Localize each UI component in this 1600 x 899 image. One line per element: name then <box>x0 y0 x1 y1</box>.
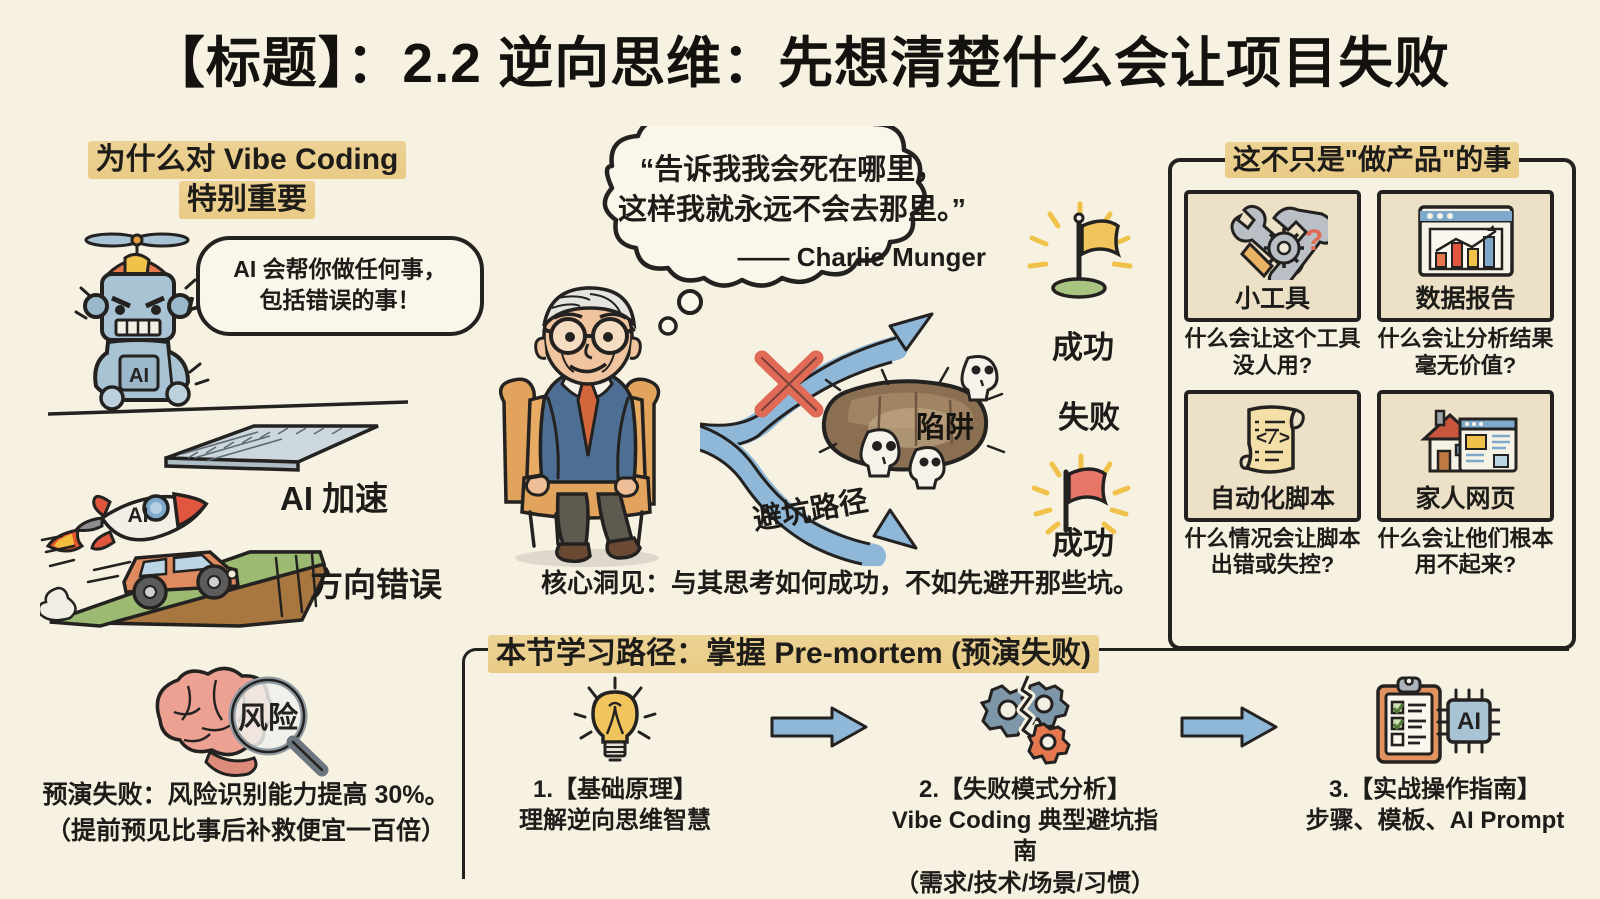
label-ai-speed: AI 加速 <box>280 472 388 520</box>
learning-step[interactable]: 1.【基础原理】 理解逆向思维智慧 <box>470 672 760 836</box>
page-title: 【标题】：2.2 逆向思维：先想清楚什么会让项目失败 <box>0 18 1600 98</box>
learning-path-steps: 1.【基础原理】 理解逆向思维智慧 <box>470 672 1580 882</box>
tools-gear-question-icon: ? <box>1218 194 1328 287</box>
step-line1: 3.【实战操作指南】 <box>1306 774 1565 805</box>
step-text: 1.【基础原理】 理解逆向思维智慧 <box>519 774 711 836</box>
step-text: 2.【失败模式分析】 Vibe Coding 典型避坑指南 （需求/技术/场景/… <box>880 774 1170 899</box>
chart-window-icon <box>1416 194 1516 287</box>
scenario-card[interactable]: ? 小工具 什么会让这个工具没人用? <box>1184 190 1361 380</box>
broken-gears-icon <box>972 672 1078 768</box>
step-text: 3.【实战操作指南】 步骤、模板、AI Prompt <box>1306 774 1565 836</box>
right-panel-heading: 这不只是"做产品"的事 <box>1186 138 1558 178</box>
scenario-card[interactable]: 家人网页 什么会让他们根本用不起来? <box>1377 390 1554 580</box>
propeller-icon <box>86 234 188 254</box>
card-caption: 什么情况会让脚本出错或失控? <box>1184 526 1361 580</box>
arrow-right-icon <box>765 672 875 748</box>
robot-bubble-line1: AI 会帮你做任何事， <box>216 254 464 285</box>
skull-icon <box>910 448 944 488</box>
brain-magnifier-illustration: 风险 <box>140 660 340 780</box>
card-automation-script[interactable]: </> 自动化脚本 <box>1184 390 1361 522</box>
scenario-card[interactable]: 数据报告 什么会让分析结果毫无价值? <box>1377 190 1554 380</box>
step-line2: 步骤、模板、AI Prompt <box>1306 805 1565 836</box>
robot-speech-bubble: AI 会帮你做任何事， 包括错误的事！ <box>196 236 484 336</box>
card-title: 自动化脚本 <box>1210 487 1335 512</box>
learning-step[interactable]: 2.【失败模式分析】 Vibe Coding 典型避坑指南 （需求/技术/场景/… <box>880 672 1170 899</box>
magnifier-icon: 风险 <box>232 680 322 770</box>
robot-ai-badge: AI <box>129 365 149 387</box>
magnifier-label: 风险 <box>238 701 299 735</box>
card-title: 数据报告 <box>1415 287 1515 312</box>
step-line2: 理解逆向思维智慧 <box>519 805 711 836</box>
quote-line1: “告诉我我会死在哪里， <box>572 150 1012 190</box>
step-line1: 2.【失败模式分析】 <box>880 774 1170 805</box>
label-wrong-direction: 方向错误 <box>310 558 442 606</box>
house-webpage-icon <box>1414 394 1518 487</box>
left-heading-line1: 为什么对 Vibe Coding <box>88 141 407 179</box>
card-title: 家人网页 <box>1415 487 1515 512</box>
card-tools[interactable]: ? 小工具 <box>1184 190 1361 322</box>
scenario-cards-grid: ? 小工具 什么会让这个工具没人用? <box>1184 190 1554 579</box>
arrow-right-icon <box>1175 672 1285 748</box>
label-success-bottom: 成功 <box>1052 518 1114 563</box>
step-line2: Vibe Coding 典型避坑指南 <box>880 805 1170 867</box>
card-caption: 什么会让这个工具没人用? <box>1184 326 1361 380</box>
svg-text:?: ? <box>1304 224 1322 257</box>
right-heading-text: 这不只是"做产品"的事 <box>1225 142 1520 178</box>
learning-path-title-text: 本节学习路径：掌握 Pre-mortem (预演失败) <box>488 635 1099 673</box>
label-success-top: 成功 <box>1052 322 1114 367</box>
robot-bubble-line2: 包括错误的事！ <box>216 285 464 316</box>
skull-icon <box>962 357 997 401</box>
brain-caption: 预演失败：风险识别能力提高 30%。 （提前预见比事后补救便宜一百倍） <box>36 778 456 849</box>
rocket-ai-badge: AI <box>128 504 149 527</box>
left-section-heading: 为什么对 Vibe Coding 特别重要 <box>52 140 442 219</box>
svg-text:</>: </> <box>1255 428 1289 450</box>
clipboard-ai-icon: AI <box>1370 672 1500 768</box>
card-caption: 什么会让分析结果毫无价值? <box>1377 326 1554 380</box>
brain-caption-line2: （提前预见比事后补救便宜一百倍） <box>36 814 456 850</box>
label-pit: 陷阱 <box>916 404 974 446</box>
path-branch-diagram <box>700 296 1050 566</box>
card-family-webpage[interactable]: 家人网页 <box>1377 390 1554 522</box>
svg-text:AI: AI <box>1457 708 1481 735</box>
charlie-munger-illustration <box>482 282 692 572</box>
left-heading-line2: 特别重要 <box>179 181 315 219</box>
card-data-report[interactable]: 数据报告 <box>1377 190 1554 322</box>
step-line1: 1.【基础原理】 <box>519 774 711 805</box>
learning-path-title: 本节学习路径：掌握 Pre-mortem (预演失败) <box>488 628 1099 672</box>
core-insight-text: 核心洞见：与其思考如何成功，不如先避开那些坑。 <box>500 563 1180 600</box>
learning-step[interactable]: AI 3.【实战操作指南】 步骤、模板、AI Prompt <box>1290 672 1580 836</box>
brain-caption-line1: 预演失败：风险识别能力提高 30%。 <box>36 778 456 814</box>
label-failure: 失败 <box>1058 392 1120 437</box>
quote-line2: 这样我就永远不会去那里。” <box>572 190 1012 230</box>
code-scroll-icon: </> <box>1233 394 1313 487</box>
yellow-flag-success-icon <box>1020 196 1140 316</box>
quote-attribution: —— Charlie Munger <box>572 242 1012 273</box>
rocket-icon: AI <box>48 494 206 551</box>
lightbulb-icon <box>567 672 663 768</box>
card-title: 小工具 <box>1235 287 1310 312</box>
munger-quote: “告诉我我会死在哪里， 这样我就永远不会去那里。” <box>572 150 1012 230</box>
step-line3: （需求/技术/场景/习惯） <box>880 868 1170 899</box>
scenario-card[interactable]: </> 自动化脚本 什么情况会让脚本出错或失控? <box>1184 390 1361 580</box>
card-caption: 什么会让他们根本用不起来? <box>1377 526 1554 580</box>
